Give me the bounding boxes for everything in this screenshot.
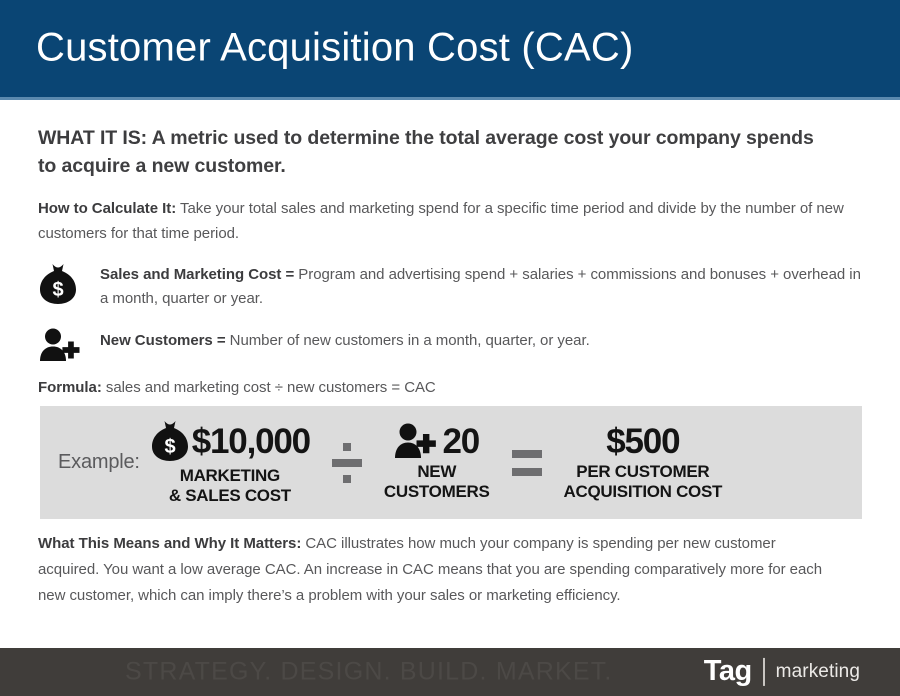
definition-row: New Customers = Number of new customers … xyxy=(38,327,862,362)
what-it-is-paragraph: WHAT IT IS: A metric used to determine t… xyxy=(38,125,828,180)
brand-logo-name: Tag xyxy=(704,657,752,686)
definition-body: Number of new customers in a month, quar… xyxy=(226,332,590,349)
svg-text:$: $ xyxy=(164,436,175,458)
new-customer-icon xyxy=(38,327,100,362)
how-to-calculate-label: How to Calculate It: xyxy=(38,200,176,217)
formula-label: Formula: xyxy=(38,379,102,396)
svg-text:$: $ xyxy=(52,279,63,301)
slide-body: WHAT IT IS: A metric used to determine t… xyxy=(0,103,900,648)
example-term-cac-result: $500 PER CUSTOMER ACQUISITION COST xyxy=(558,424,729,501)
definition-text: Sales and Marketing Cost = Program and a… xyxy=(100,261,862,312)
example-sublabel-line2: ACQUISITION COST xyxy=(564,482,723,501)
example-box: Example: $ $10,000 MARKETING & SALES COS… xyxy=(40,406,862,519)
new-customer-icon xyxy=(394,423,440,459)
what-this-means-label: What This Means and Why It Matters: xyxy=(38,535,301,552)
example-sublabel-line1: PER CUSTOMER xyxy=(576,462,709,481)
what-this-means-paragraph: What This Means and Why It Matters: CAC … xyxy=(38,531,838,608)
how-to-calculate-paragraph: How to Calculate It: Take your total sal… xyxy=(38,197,853,246)
equals-operator-icon xyxy=(496,450,558,476)
example-sublabel-line2: & SALES COST xyxy=(169,486,291,505)
definition-term: New Customers = xyxy=(100,332,226,349)
example-amount: $500 xyxy=(606,424,679,459)
formula-line: Formula: sales and marketing cost ÷ new … xyxy=(38,379,862,396)
what-it-is-text: A metric used to determine the total ave… xyxy=(38,127,814,177)
divide-operator-icon xyxy=(316,443,378,483)
what-it-is-label: WHAT IT IS: xyxy=(38,127,147,149)
page-title: Customer Acquisition Cost (CAC) xyxy=(36,25,634,70)
example-sublabel: NEW CUSTOMERS xyxy=(384,462,490,501)
example-term-marketing-cost: $ $10,000 MARKETING & SALES COST xyxy=(144,419,316,505)
example-sublabel-line1: MARKETING xyxy=(180,466,280,485)
slide-header: Customer Acquisition Cost (CAC) xyxy=(0,0,900,100)
money-bag-icon: $ xyxy=(38,261,100,306)
slide-root: Customer Acquisition Cost (CAC) WHAT IT … xyxy=(0,0,900,696)
slide-footer: STRATEGY. DESIGN. BUILD. MARKET. Tag mar… xyxy=(0,648,900,696)
example-sublabel-line2: CUSTOMERS xyxy=(384,482,490,501)
formula-text: sales and marketing cost ÷ new customers… xyxy=(102,379,436,396)
definition-text: New Customers = Number of new customers … xyxy=(100,327,862,353)
example-amount: 20 xyxy=(442,424,479,459)
brand-logo-suffix: marketing xyxy=(776,662,860,681)
brand-logo: Tag marketing xyxy=(704,657,860,686)
footer-tagline: STRATEGY. DESIGN. BUILD. MARKET. xyxy=(125,658,613,687)
definition-row: $ Sales and Marketing Cost = Program and… xyxy=(38,261,862,312)
example-amount: $10,000 xyxy=(192,424,310,459)
example-label: Example: xyxy=(40,451,144,474)
example-term-new-customers: 20 NEW CUSTOMERS xyxy=(378,423,496,501)
example-sublabel: PER CUSTOMER ACQUISITION COST xyxy=(564,462,723,501)
logo-divider xyxy=(763,657,765,685)
example-sublabel: MARKETING & SALES COST xyxy=(169,466,291,505)
definition-term: Sales and Marketing Cost = xyxy=(100,266,294,283)
example-sublabel-line1: NEW xyxy=(417,462,456,481)
money-bag-icon: $ xyxy=(150,419,190,463)
